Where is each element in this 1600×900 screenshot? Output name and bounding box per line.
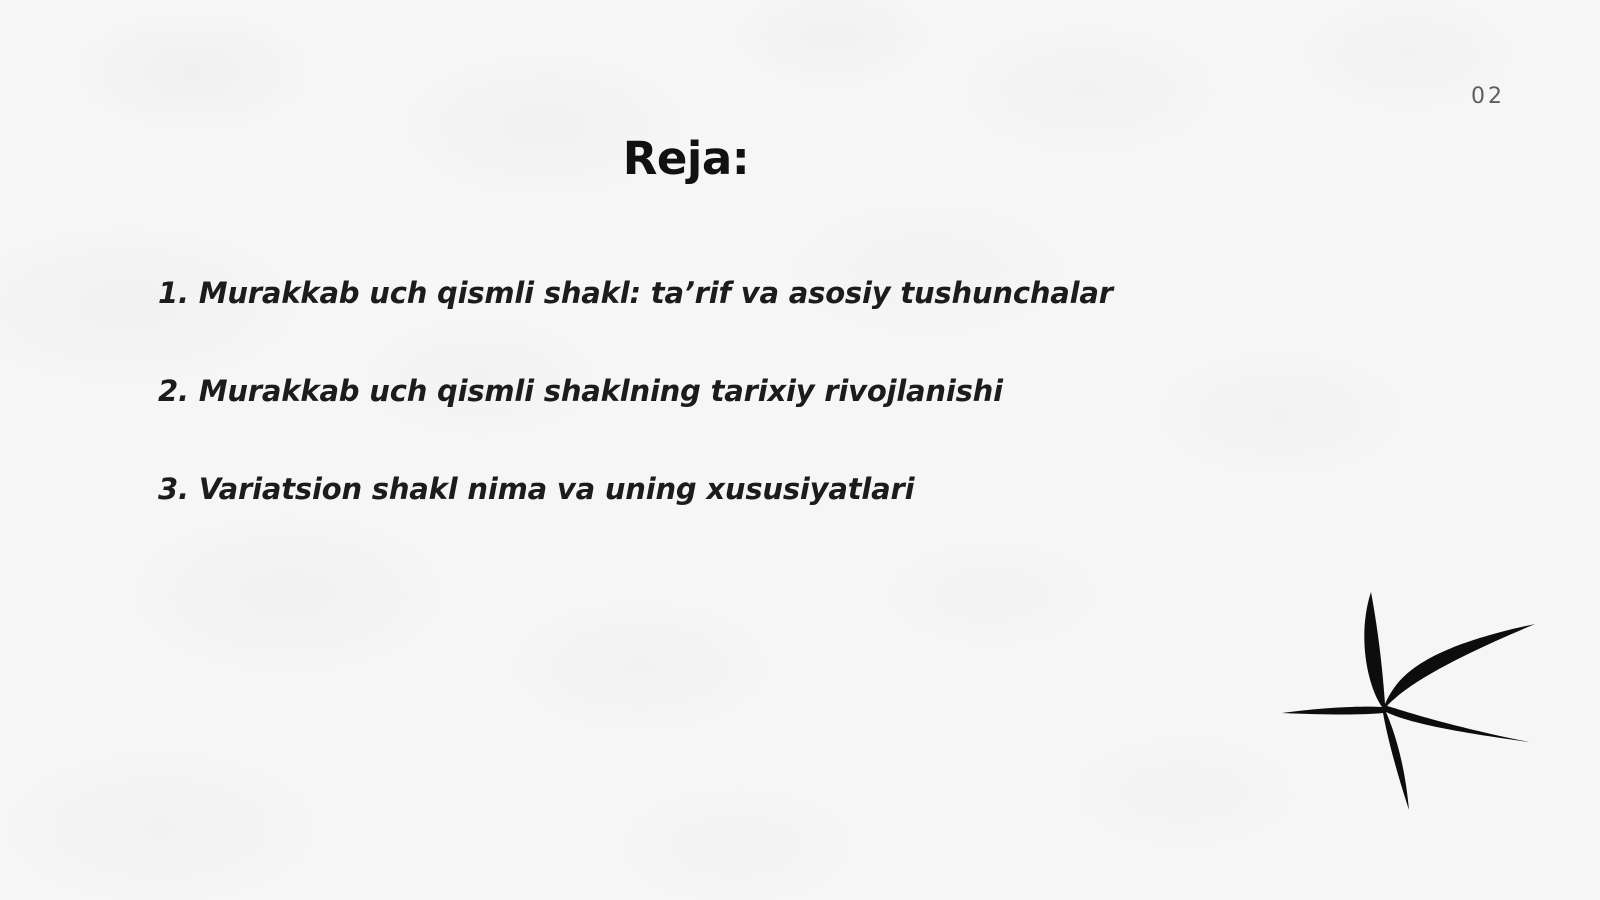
- list-item: 3. Variatsion shakl nima va uning xususi…: [158, 472, 1308, 507]
- slide-canvas: 02 Reja: 1. Murakkab uch qismli shakl: t…: [0, 0, 1600, 900]
- page-title: Reja:: [0, 132, 1372, 185]
- list-item: 2. Murakkab uch qismli shaklning tarixiy…: [158, 374, 1308, 409]
- sparkle-star-icon: [1245, 565, 1555, 830]
- agenda-list: 1. Murakkab uch qismli shakl: ta’rif va …: [158, 276, 1308, 506]
- list-item: 1. Murakkab uch qismli shakl: ta’rif va …: [158, 276, 1308, 311]
- page-number: 02: [1471, 84, 1505, 109]
